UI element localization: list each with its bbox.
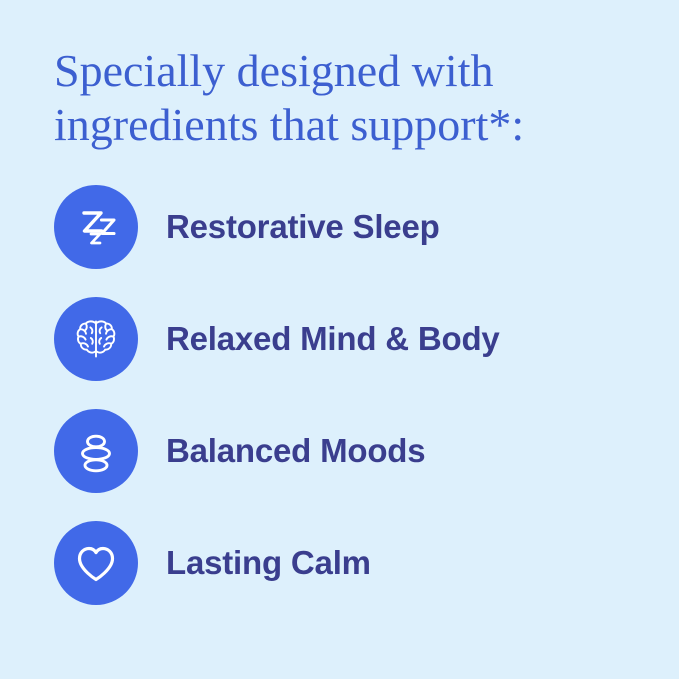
benefit-list: Restorative Sleep bbox=[54, 185, 500, 605]
list-item: Balanced Moods bbox=[54, 409, 500, 493]
balanced-stones-icon bbox=[54, 409, 138, 493]
heart-icon bbox=[54, 521, 138, 605]
page-title: Specially designed with ingredients that… bbox=[54, 44, 639, 152]
page-title-line-2: ingredients that support*: bbox=[54, 98, 639, 152]
page-title-line-1: Specially designed with bbox=[54, 44, 639, 98]
list-item-label: Lasting Calm bbox=[166, 544, 371, 582]
brain-icon bbox=[54, 297, 138, 381]
benefits-poster: Specially designed with ingredients that… bbox=[0, 0, 679, 679]
list-item-label: Restorative Sleep bbox=[166, 208, 440, 246]
list-item-label: Balanced Moods bbox=[166, 432, 425, 470]
list-item: Restorative Sleep bbox=[54, 185, 500, 269]
list-item-label: Relaxed Mind & Body bbox=[166, 320, 500, 358]
list-item: Relaxed Mind & Body bbox=[54, 297, 500, 381]
list-item: Lasting Calm bbox=[54, 521, 500, 605]
sleep-zzz-icon bbox=[54, 185, 138, 269]
